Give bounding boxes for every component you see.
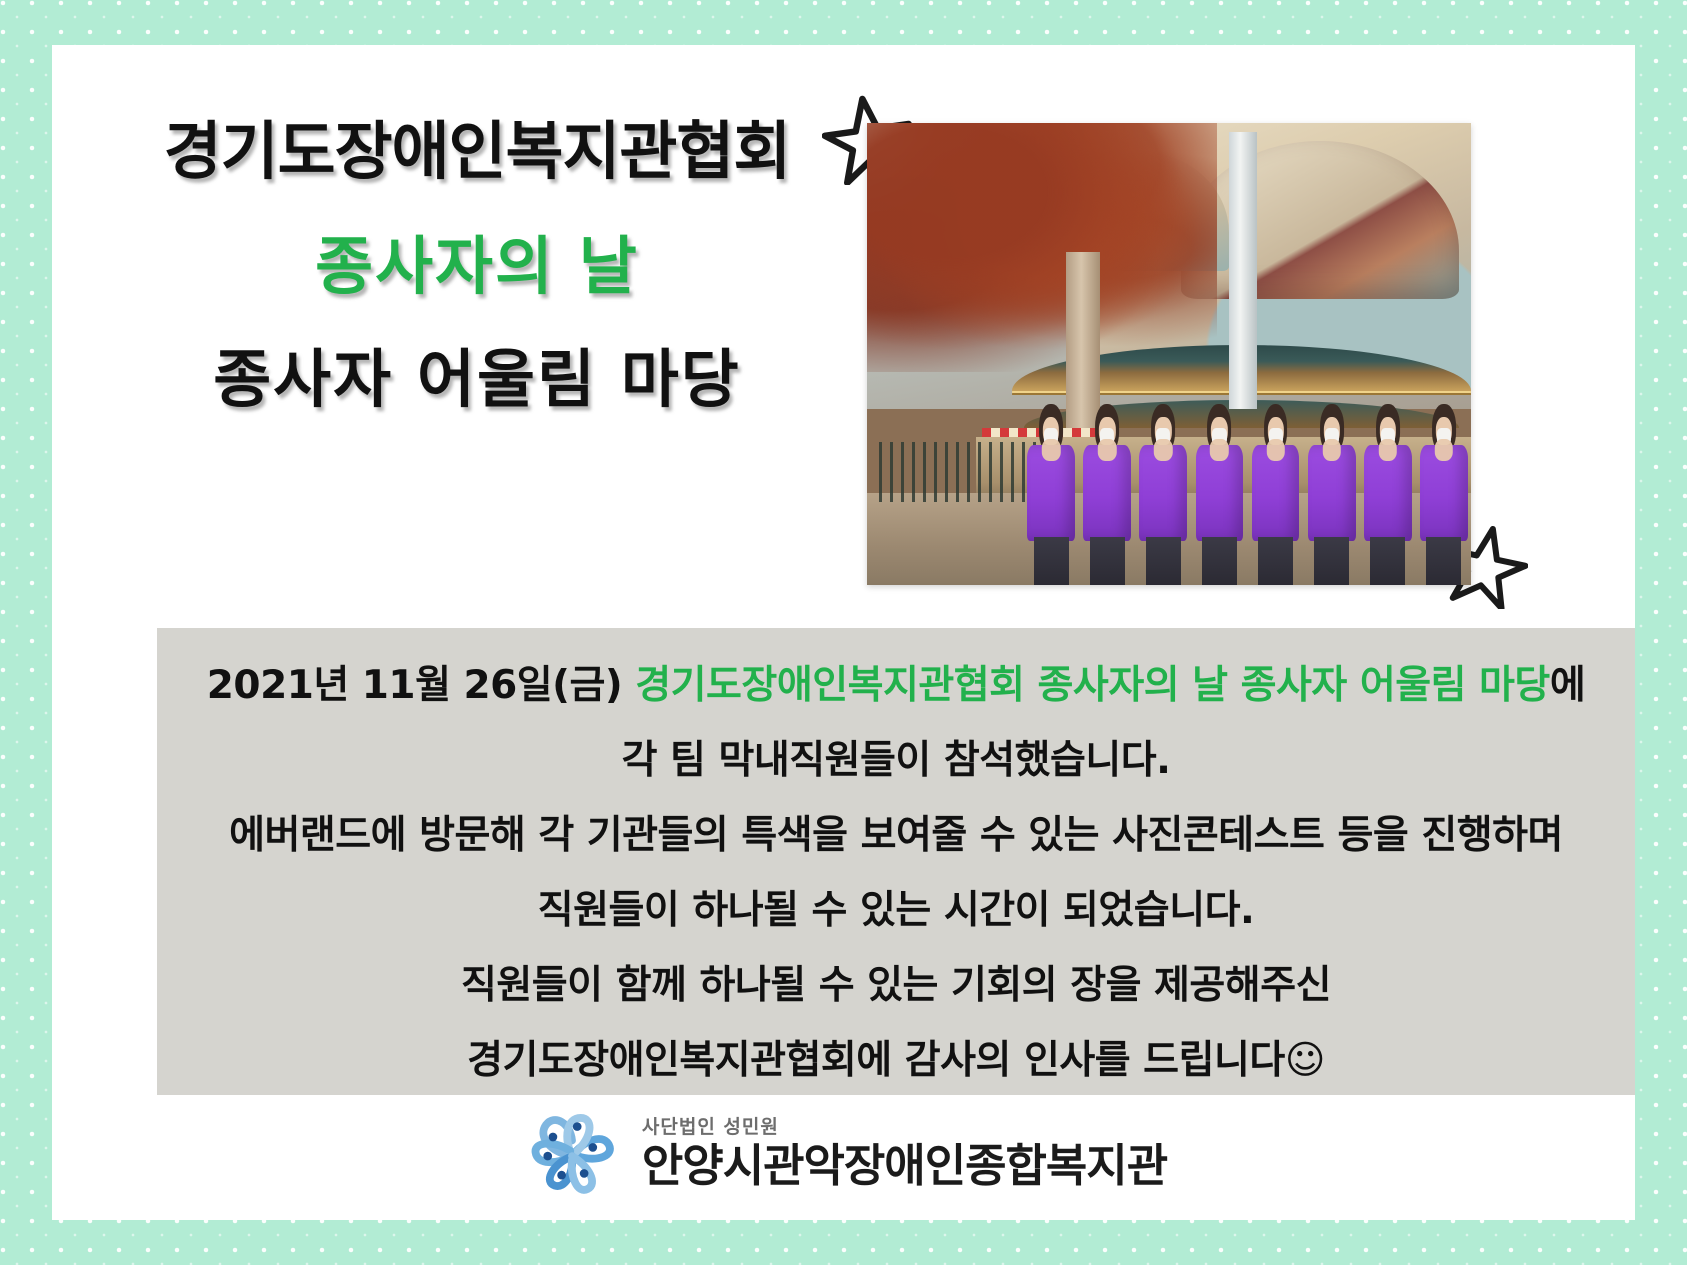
description-line-2: 각 팀 막내직원들이 참석했습니다. [157, 741, 1635, 780]
description-line-1-highlight: 경기도장애인복지관협회 종사자의 날 종사자 어울림 마당 [635, 663, 1550, 708]
headline-block: 경기도장애인복지관협회 종사자의 날 종사자 어울림 마당 [112, 120, 842, 411]
event-photo [867, 123, 1471, 585]
event-photo-image [867, 123, 1471, 585]
photo-person [1248, 400, 1302, 585]
photo-person [1192, 400, 1246, 585]
seongminwon-flower-logo-icon [520, 1102, 624, 1198]
description-line-1: 2021년 11월 26일(금) 경기도장애인복지관협회 종사자의 날 종사자 … [157, 666, 1635, 705]
photo-fence [879, 442, 1036, 502]
photo-person [1417, 400, 1471, 585]
photo-person [1305, 400, 1359, 585]
footer-logo-text: 사단법인 성민원 안양시관악장애인종합복지관 [642, 1112, 1167, 1188]
photo-white-column [1229, 132, 1257, 409]
photo-autumn-tree [867, 123, 1217, 372]
description-line-3: 에버랜드에 방문해 각 기관들의 특색을 보여줄 수 있는 사진콘테스트 등을 … [157, 816, 1635, 855]
description-panel: 2021년 11월 26일(금) 경기도장애인복지관협회 종사자의 날 종사자 … [157, 628, 1635, 1095]
footer-corporation-name: 사단법인 성민원 [642, 1112, 1167, 1139]
headline-organization: 경기도장애인복지관협회 [112, 120, 842, 183]
footer-logo: 사단법인 성민원 안양시관악장애인종합복지관 [52, 1102, 1635, 1198]
footer-center-name: 안양시관악장애인종합복지관 [642, 1143, 1167, 1188]
description-line-6: 경기도장애인복지관협회에 감사의 인사를 드립니다☺ [157, 1041, 1635, 1080]
headline-event-subtitle: 종사자 어울림 마당 [112, 348, 842, 411]
photo-person [1024, 400, 1078, 585]
poster-card: 경기도장애인복지관협회 종사자의 날 종사자 어울림 마당 [52, 45, 1635, 1220]
description-line-1-pre: 2021년 11월 26일(금) [207, 663, 636, 708]
headline-event-name: 종사자의 날 [112, 235, 842, 298]
description-line-5: 직원들이 함께 하나될 수 있는 기회의 장을 제공해주신 [157, 966, 1635, 1005]
photo-people-group [1024, 400, 1471, 585]
description-line-1-post: 에 [1550, 663, 1585, 708]
photo-person [1080, 400, 1134, 585]
poster-background: 경기도장애인복지관협회 종사자의 날 종사자 어울림 마당 [0, 0, 1687, 1265]
photo-person [1136, 400, 1190, 585]
photo-person [1361, 400, 1415, 585]
description-line-4: 직원들이 하나될 수 있는 시간이 되었습니다. [157, 891, 1635, 930]
